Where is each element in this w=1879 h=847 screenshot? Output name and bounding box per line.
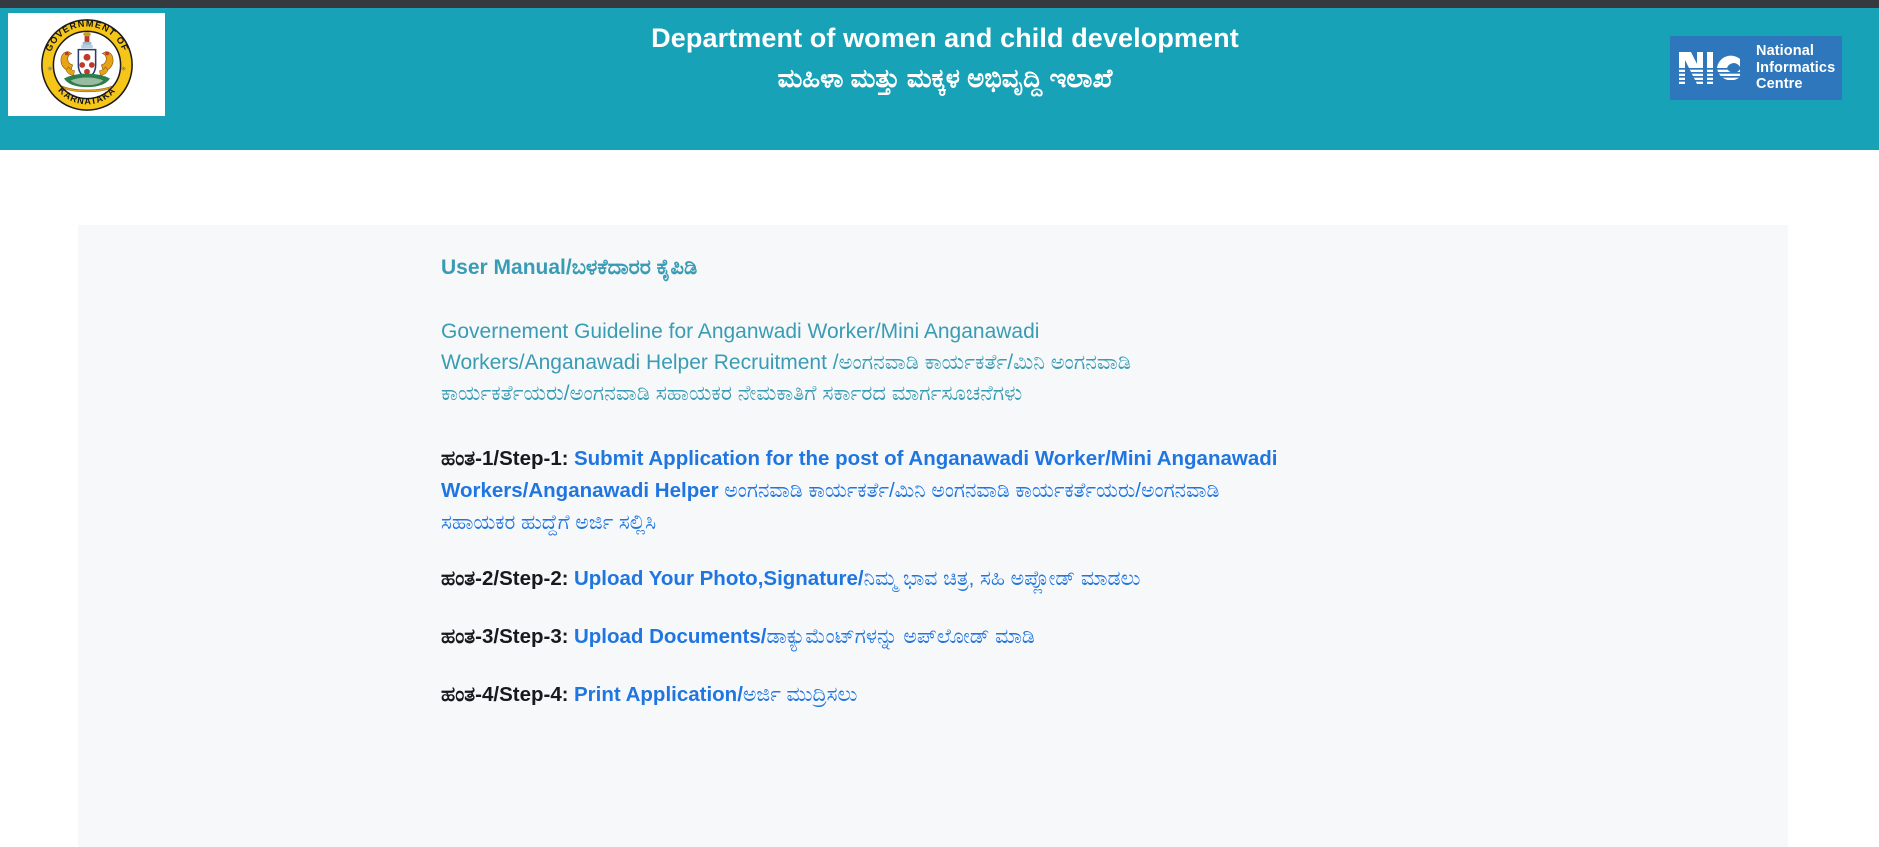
user-manual-label-en: User Manual/ — [441, 256, 572, 279]
nic-word-national: National — [1756, 43, 1835, 60]
header-title-kannada: ಮಹಿಳಾ ಮತ್ತು ಮಕ್ಕಳ ಅಭಿವೃದ್ದಿ ಇಲಾಖೆ — [400, 58, 1490, 98]
nic-wordmark: National Informatics Centre — [1756, 43, 1835, 93]
step-3-link-en: Upload Documents/ — [574, 625, 767, 648]
content-inner: User Manual/ಬಳಕೆದಾರರ ಕೈಪಿಡಿ Governement … — [78, 225, 1788, 711]
government-guideline-link[interactable]: Governement Guideline for Anganwadi Work… — [441, 316, 1241, 409]
user-manual-link[interactable]: User Manual/ಬಳಕೆದಾರರ ಕೈಪಿಡಿ — [441, 253, 697, 283]
government-of-karnataka-emblem-icon: GOVERNMENT OF KARNATAKA ✳ ✳ — [39, 17, 135, 113]
step-4-link-en: Print Application/ — [574, 683, 743, 706]
top-dark-strip — [0, 0, 1879, 8]
header-title-block: Department of women and child developmen… — [400, 18, 1490, 98]
step-2-link-en: Upload Your Photo,Signature/ — [574, 567, 864, 590]
step-4-separator: : — [562, 684, 569, 706]
header-title-english: Department of women and child developmen… — [400, 18, 1490, 58]
step-row-4: ಹಂತ-4/Step-4: Print Application/ಅರ್ಜಿ ಮು… — [441, 679, 1281, 711]
step-2-separator: : — [562, 568, 569, 590]
step-row-3: ಹಂತ-3/Step-3: Upload Documents/ಡಾಕ್ಯುಮೆಂ… — [441, 621, 1281, 653]
step-1-label: ಹಂತ-1/Step-1 — [441, 447, 562, 470]
step-3-separator: : — [562, 626, 569, 648]
step-row-2: ಹಂತ-2/Step-2: Upload Your Photo,Signatur… — [441, 563, 1281, 595]
main-content-panel: User Manual/ಬಳಕೆದಾರರ ಕೈಪಿಡಿ Governement … — [78, 225, 1788, 847]
nic-monogram-icon — [1678, 46, 1748, 90]
site-header: GOVERNMENT OF KARNATAKA ✳ ✳ — [0, 8, 1879, 150]
step-3-label: ಹಂತ-3/Step-3 — [441, 625, 562, 648]
nic-word-centre: Centre — [1756, 76, 1835, 93]
step-2-link-kn: ನಿಮ್ಮ ಭಾವ ಚಿತ್ರ, ಸಹಿ ಅಪ್ಲೋಡ್ ಮಾಡಲು — [864, 567, 1141, 590]
step-2-link[interactable]: Upload Your Photo,Signature/ನಿಮ್ಮ ಭಾವ ಚಿ… — [574, 567, 1140, 590]
step-4-link-kn: ಅರ್ಜಿ ಮುದ್ರಿಸಲು — [743, 683, 857, 706]
step-row-1: ಹಂತ-1/Step-1: Submit Application for the… — [441, 443, 1281, 539]
step-3-link-kn: ಡಾಕ್ಯುಮೆಂಟ್‌ಗಳನ್ನು ಅಪ್‌ಲೋಡ್ ಮಾಡಿ — [766, 625, 1034, 648]
user-manual-label-kn: ಬಳಕೆದಾರರ ಕೈಪಿಡಿ — [572, 256, 697, 279]
step-3-link[interactable]: Upload Documents/ಡಾಕ್ಯುಮೆಂಟ್‌ಗಳನ್ನು ಅಪ್‌… — [574, 625, 1035, 648]
karnataka-emblem-logo: GOVERNMENT OF KARNATAKA ✳ ✳ — [8, 13, 165, 116]
step-2-label: ಹಂತ-2/Step-2 — [441, 567, 562, 590]
svg-text:✳: ✳ — [120, 65, 126, 72]
svg-text:✳: ✳ — [47, 65, 53, 72]
nic-logo: National Informatics Centre — [1670, 36, 1842, 100]
step-4-link[interactable]: Print Application/ಅರ್ಜಿ ಮುದ್ರಿಸಲು — [574, 683, 857, 706]
nic-word-informatics: Informatics — [1756, 60, 1835, 77]
step-4-label: ಹಂತ-4/Step-4 — [441, 683, 562, 706]
step-1-separator: : — [562, 448, 569, 470]
